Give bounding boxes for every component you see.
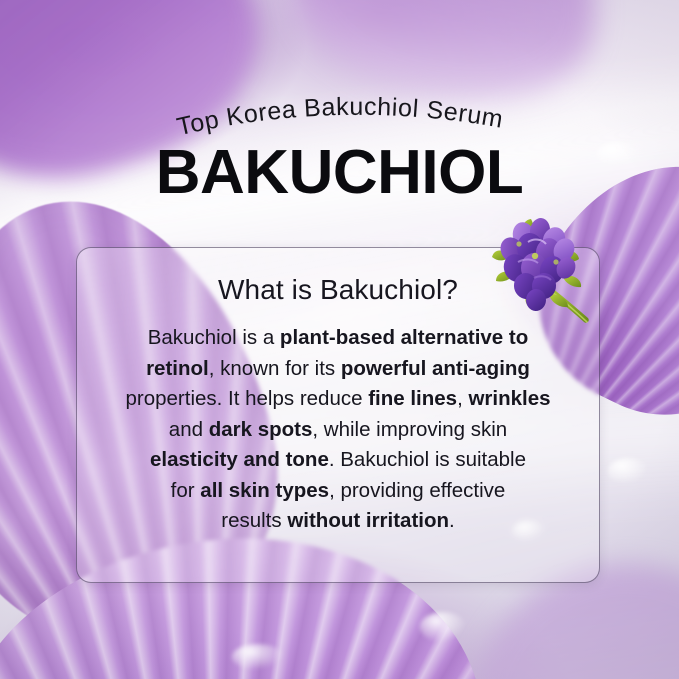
poster-canvas: Top Korea Bakuchiol Serum BAKUCHIOL What…: [0, 0, 679, 679]
body-text-run: Bakuchiol is a: [148, 326, 280, 349]
body-text-run: for: [171, 479, 201, 502]
card-body-text: Bakuchiol is a plant-based alternative t…: [99, 323, 577, 537]
body-emphasis: fine lines: [368, 387, 457, 410]
body-text-run: and: [169, 418, 209, 441]
body-text-run: , providing effective: [329, 479, 505, 502]
card-body-line: results without irritation.: [99, 506, 577, 537]
body-text-run: ,: [457, 387, 468, 410]
body-text-run: results: [221, 509, 287, 532]
card-body-line: for all skin types, providing effective: [99, 476, 577, 507]
card-body-line: retinol, known for its powerful anti-agi…: [99, 354, 577, 385]
body-text-run: properties. It helps reduce: [125, 387, 368, 410]
page-title: BAKUCHIOL: [0, 142, 679, 204]
body-text-run: , known for its: [209, 357, 341, 380]
info-card: What is Bakuchiol? Bakuchiol is a plant-…: [76, 247, 600, 583]
card-body-line: properties. It helps reduce fine lines, …: [99, 384, 577, 415]
body-emphasis: dark spots: [209, 418, 313, 441]
body-emphasis: without irritation: [287, 509, 449, 532]
card-body-line: Bakuchiol is a plant-based alternative t…: [99, 323, 577, 354]
card-body-line: and dark spots, while improving skin: [99, 415, 577, 446]
body-emphasis: elasticity and tone: [150, 448, 329, 471]
body-emphasis: wrinkles: [468, 387, 550, 410]
card-heading: What is Bakuchiol?: [77, 274, 599, 306]
body-text-run: .: [449, 509, 455, 532]
tagline-text: Top Korea Bakuchiol Serum: [174, 93, 505, 141]
body-emphasis: all skin types: [200, 479, 329, 502]
body-emphasis: plant-based alternative to: [280, 326, 528, 349]
body-text-run: . Bakuchiol is suitable: [329, 448, 526, 471]
body-emphasis: powerful anti-aging: [341, 357, 530, 380]
card-body-line: elasticity and tone. Bakuchiol is suitab…: [99, 445, 577, 476]
body-emphasis: retinol: [146, 357, 209, 380]
body-text-run: , while improving skin: [312, 418, 507, 441]
